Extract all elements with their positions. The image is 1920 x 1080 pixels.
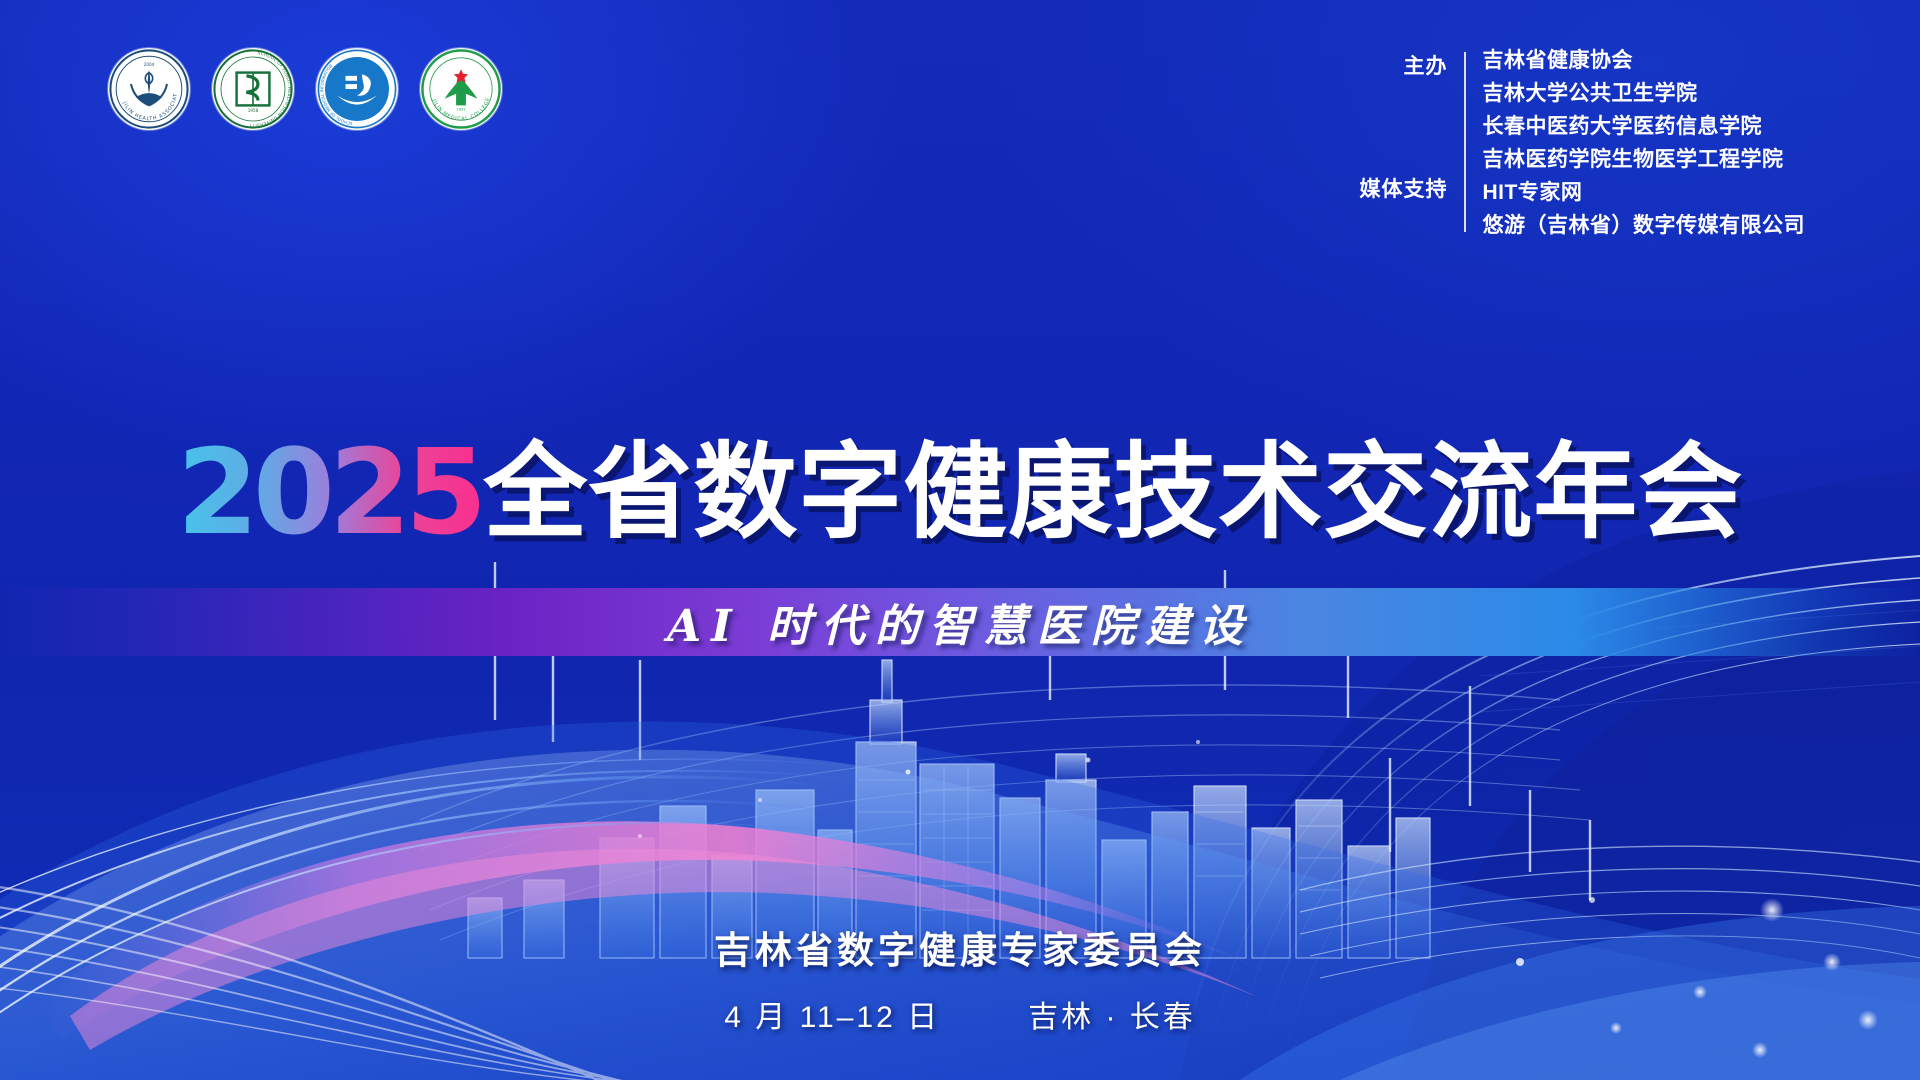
title-row: 2025 全省数字健康技术交流年会 bbox=[0, 432, 1920, 545]
media-item: 悠游（吉林省）数字传媒有限公司 bbox=[1483, 209, 1806, 242]
logo-strip: 2004 JILIN HEALTH ASSOCIATION 1958 SCHOO… bbox=[108, 48, 502, 130]
organizer-values: 吉林省健康协会 吉林大学公共卫生学院 长春中医药大学医药信息学院 吉林医药学院生… bbox=[1466, 44, 1806, 242]
subtitle-band: AI 时代的智慧医院建设 bbox=[0, 588, 1920, 656]
media-item: HIT专家网 bbox=[1483, 176, 1806, 209]
subtitle-text: AI 时代的智慧医院建设 bbox=[667, 590, 1253, 654]
organizer-labels: 主办 媒体支持 bbox=[1360, 44, 1464, 242]
host-label: 主办 bbox=[1404, 50, 1448, 83]
svg-text:1952: 1952 bbox=[456, 107, 466, 111]
jilin-health-association-logo: 2004 JILIN HEALTH ASSOCIATION bbox=[108, 48, 190, 130]
year-2025: 2025 bbox=[177, 436, 481, 549]
organizer-block: 主办 媒体支持 吉林省健康协会 吉林大学公共卫生学院 长春中医药大学医药信息学院… bbox=[1360, 44, 1806, 242]
committee-name: 吉林省数字健康专家委员会 bbox=[0, 920, 1920, 974]
jilin-university-public-health-logo: 1958 SCHOOL OF PUBLIC HEALTH JILIN UNIVE… bbox=[212, 48, 294, 130]
svg-text:1958: 1958 bbox=[248, 108, 259, 113]
host-item: 长春中医药大学医药信息学院 bbox=[1483, 110, 1806, 143]
event-location: 吉林 · 长春 bbox=[1028, 992, 1196, 1036]
event-date: 4 月 11–12 日 bbox=[724, 992, 940, 1036]
changchun-tcm-university-logo: SCHOOL OF MEDICAL INFORMATION bbox=[316, 48, 398, 130]
jilin-medical-college-logo: 1952 JILIN MEDICAL COLLEGE bbox=[420, 48, 502, 130]
media-label: 媒体支持 bbox=[1360, 173, 1448, 206]
cityscape bbox=[468, 660, 1430, 958]
host-item: 吉林大学公共卫生学院 bbox=[1483, 77, 1806, 110]
event-meta: 4 月 11–12 日 吉林 · 长春 bbox=[0, 992, 1920, 1036]
svg-text:2004: 2004 bbox=[144, 62, 155, 67]
host-item: 吉林医药学院生物医学工程学院 bbox=[1483, 143, 1806, 176]
conference-banner: 2004 JILIN HEALTH ASSOCIATION 1958 SCHOO… bbox=[0, 0, 1920, 1080]
host-item: 吉林省健康协会 bbox=[1483, 44, 1806, 77]
page-title: 全省数字健康技术交流年会 bbox=[483, 441, 1743, 545]
